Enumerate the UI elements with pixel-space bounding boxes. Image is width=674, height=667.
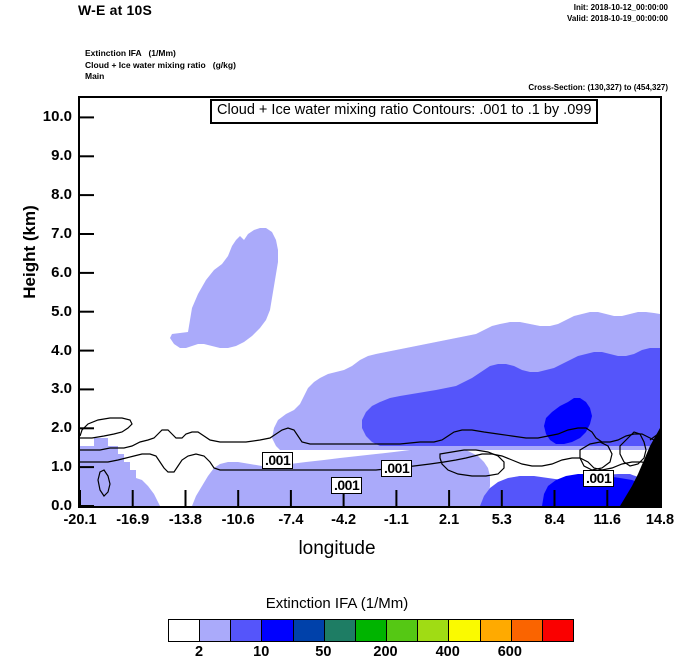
colorbar-cell [356,620,387,641]
colorbar-cell [543,620,573,641]
y-tick-label: 2.0 [0,419,72,436]
y-tick-label: 3.0 [0,380,72,397]
y-tick-label: 1.0 [0,458,72,475]
y-tick-label: 10.0 [0,108,72,125]
contour-value-label: .001 [583,470,614,487]
colorbar-tick-label: 2 [169,644,229,660]
plot-frame [78,96,662,508]
x-tick-label: 14.8 [625,512,674,528]
x-axis-title: longitude [0,538,674,560]
colorbar-cell [481,620,512,641]
contour-title-box: Cloud + Ice water mixing ratio Contours:… [210,99,598,124]
variable-info: Extinction IFA (1/Mm) Cloud + Ice water … [85,48,236,83]
contour-value-label: .001 [262,452,293,469]
colorbar-tick-label: 10 [231,644,291,660]
colorbar-cell [200,620,231,641]
cross-section-label: Cross-Section: (130,327) to (454,327) [528,83,668,92]
y-axis-title: Height (km) [20,182,40,322]
colorbar-title: Extinction IFA (1/Mm) [0,595,674,612]
colorbar-cell [512,620,543,641]
colorbar-cell [294,620,325,641]
fill-level-1-boundary-layer-2 [192,446,490,506]
colorbar-cell [231,620,262,641]
colorbar-cell [449,620,480,641]
y-tick-label: 9.0 [0,147,72,164]
colorbar-tick-label: 400 [418,644,478,660]
colorbar-cell [418,620,449,641]
colorbar-cell [325,620,356,641]
fill-level-1-left-blob [170,228,278,348]
valid-time-label: Valid: 2018-10-19_00:00:00 [567,13,668,24]
init-time-label: Init: 2018-10-12_00:00:00 [567,2,668,13]
colorbar-cell [387,620,418,641]
run-time-block: Init: 2018-10-12_00:00:00 Valid: 2018-10… [567,2,668,24]
y-tick-label: 4.0 [0,342,72,359]
colorbar-cell [262,620,293,641]
colorbar-tick-label: 200 [356,644,416,660]
cross-section-plot [80,98,660,506]
page-title: W-E at 10S [78,2,152,18]
colorbar [168,619,574,642]
colorbar-tick-label: 600 [480,644,540,660]
colorbar-tick-label: 50 [293,644,353,660]
colorbar-cell [169,620,200,641]
contour-value-label: .001 [381,460,412,477]
contour-value-label: .001 [331,477,362,494]
